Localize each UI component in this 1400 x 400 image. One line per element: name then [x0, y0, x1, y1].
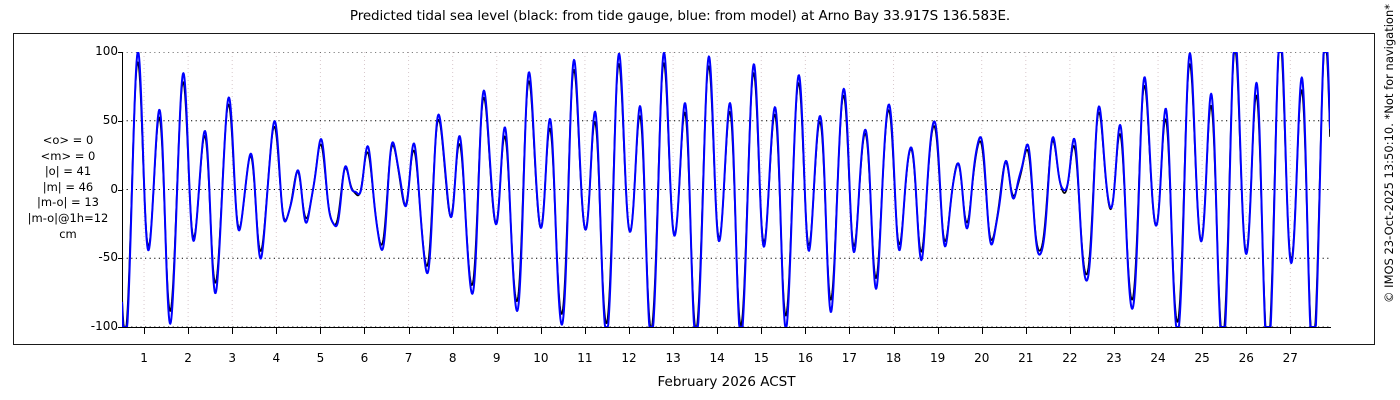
x-tick-label: 27 [1275, 351, 1305, 365]
x-tick-mark [320, 328, 321, 334]
y-tick-label: 100 [84, 44, 118, 58]
x-tick-mark [938, 328, 939, 334]
y-tick-label: 50 [84, 113, 118, 127]
y-tick-label: 0 [84, 182, 118, 196]
x-tick-mark [1290, 328, 1291, 334]
y-tick-label: -100 [84, 319, 118, 333]
x-tick-label: 20 [967, 351, 997, 365]
x-tick-label: 8 [438, 351, 468, 365]
x-tick-label: 15 [746, 351, 776, 365]
x-tick-label: 10 [526, 351, 556, 365]
x-tick-mark [1202, 328, 1203, 334]
x-tick-label: 14 [702, 351, 732, 365]
y-tick-mark [118, 327, 123, 328]
x-tick-label: 21 [1011, 351, 1041, 365]
x-tick-label: 23 [1099, 351, 1129, 365]
stat-units: cm [16, 227, 120, 243]
x-tick-label: 9 [482, 351, 512, 365]
chart-title: Predicted tidal sea level (black: from t… [0, 8, 1360, 24]
y-tick-mark [118, 190, 123, 191]
stat-mean-obs: <o> = 0 [16, 133, 120, 149]
x-tick-mark [1246, 328, 1247, 334]
x-tick-label: 22 [1055, 351, 1085, 365]
x-tick-mark [409, 328, 410, 334]
x-tick-label: 1 [129, 351, 159, 365]
x-tick-label: 25 [1187, 351, 1217, 365]
x-tick-mark [497, 328, 498, 334]
x-tick-mark [761, 328, 762, 334]
x-tick-label: 6 [349, 351, 379, 365]
x-tick-mark [673, 328, 674, 334]
x-tick-label: 2 [173, 351, 203, 365]
x-tick-mark [1070, 328, 1071, 334]
x-tick-mark [894, 328, 895, 334]
x-tick-mark [982, 328, 983, 334]
y-tick-mark [118, 52, 123, 53]
x-tick-label: 16 [790, 351, 820, 365]
x-tick-mark [585, 328, 586, 334]
x-tick-mark [364, 328, 365, 334]
x-tick-mark [717, 328, 718, 334]
plot-area [122, 52, 1330, 327]
x-tick-label: 7 [394, 351, 424, 365]
x-tick-label: 24 [1143, 351, 1173, 365]
x-tick-label: 18 [879, 351, 909, 365]
x-tick-mark [629, 328, 630, 334]
x-tick-mark [276, 328, 277, 334]
x-tick-mark [1114, 328, 1115, 334]
stat-mean-model: <m> = 0 [16, 149, 120, 165]
x-tick-label: 17 [834, 351, 864, 365]
x-tick-mark [453, 328, 454, 334]
x-tick-label: 26 [1231, 351, 1261, 365]
x-axis-title: February 2026 ACST [122, 374, 1331, 390]
x-tick-label: 3 [217, 351, 247, 365]
y-tick-mark [118, 258, 123, 259]
y-tick-label: -50 [84, 250, 118, 264]
x-tick-mark [1026, 328, 1027, 334]
x-tick-mark [541, 328, 542, 334]
credit-label: © IMOS 23-Oct-2025 13:50:10. *Not for na… [1382, 4, 1396, 396]
x-tick-mark [144, 328, 145, 334]
x-tick-mark [188, 328, 189, 334]
x-tick-mark [805, 328, 806, 334]
tidal-series-svg [122, 52, 1330, 327]
x-tick-label: 4 [261, 351, 291, 365]
y-tick-mark [118, 121, 123, 122]
stat-abs-diff-1h: |m-o|@1h=12 [16, 211, 120, 227]
stat-abs-obs: |o| = 41 [16, 164, 120, 180]
x-tick-mark [849, 328, 850, 334]
x-tick-label: 5 [305, 351, 335, 365]
x-tick-label: 12 [614, 351, 644, 365]
x-tick-label: 13 [658, 351, 688, 365]
x-axis-spine [122, 327, 1331, 328]
tidal-sea-level-figure: Predicted tidal sea level (black: from t… [0, 0, 1400, 400]
stat-abs-diff: |m-o| = 13 [16, 195, 120, 211]
x-tick-label: 11 [570, 351, 600, 365]
copyright-credit: © IMOS 23-Oct-2025 13:50:10. *Not for na… [1378, 0, 1398, 400]
x-tick-mark [232, 328, 233, 334]
x-tick-label: 19 [923, 351, 953, 365]
x-tick-mark [1158, 328, 1159, 334]
